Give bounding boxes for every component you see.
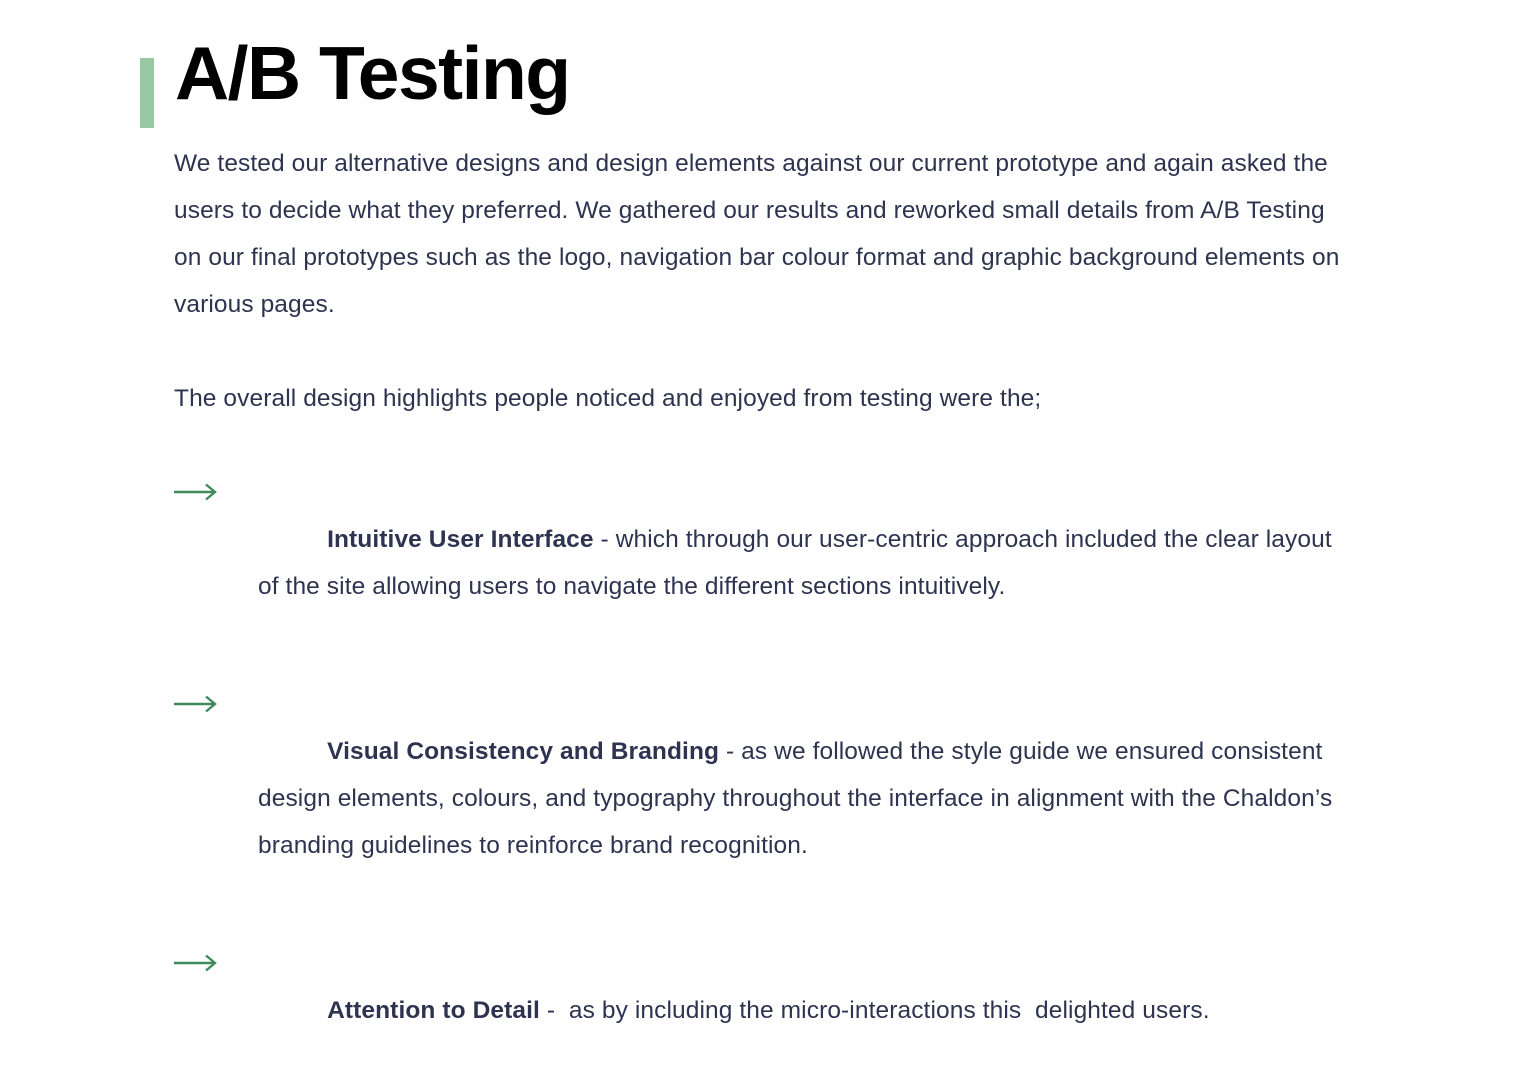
design-highlights-list: Intuitive User Interface - which through… xyxy=(174,469,1374,1081)
long-right-arrow-icon xyxy=(174,469,218,516)
list-item-lead: Intuitive User Interface xyxy=(327,526,594,553)
long-right-arrow-icon xyxy=(174,940,218,987)
list-item-text: Attention to Detail - as by including th… xyxy=(258,940,1210,1081)
page-title: A/B Testing xyxy=(175,36,570,111)
list-item-lead: Attention to Detail xyxy=(327,997,540,1024)
document-page: A/B Testing We tested our alternative de… xyxy=(0,0,1513,877)
page-title-block: A/B Testing xyxy=(140,36,570,128)
highlights-intro-paragraph: The overall design highlights people not… xyxy=(174,375,1359,422)
title-accent-bar xyxy=(140,58,154,128)
intro-paragraph: We tested our alternative designs and de… xyxy=(174,140,1359,328)
list-item-text: Visual Consistency and Branding - as we … xyxy=(258,681,1333,916)
long-right-arrow-icon xyxy=(174,681,218,728)
list-item-body: - as by including the micro-interactions… xyxy=(540,997,1210,1024)
list-item: Visual Consistency and Branding - as we … xyxy=(174,681,1374,916)
list-item: Intuitive User Interface - which through… xyxy=(174,469,1374,657)
list-item: Attention to Detail - as by including th… xyxy=(174,940,1374,1081)
list-item-text: Intuitive User Interface - which through… xyxy=(258,469,1333,657)
document-body: We tested our alternative designs and de… xyxy=(174,140,1374,1081)
list-item-lead: Visual Consistency and Branding xyxy=(327,738,719,765)
